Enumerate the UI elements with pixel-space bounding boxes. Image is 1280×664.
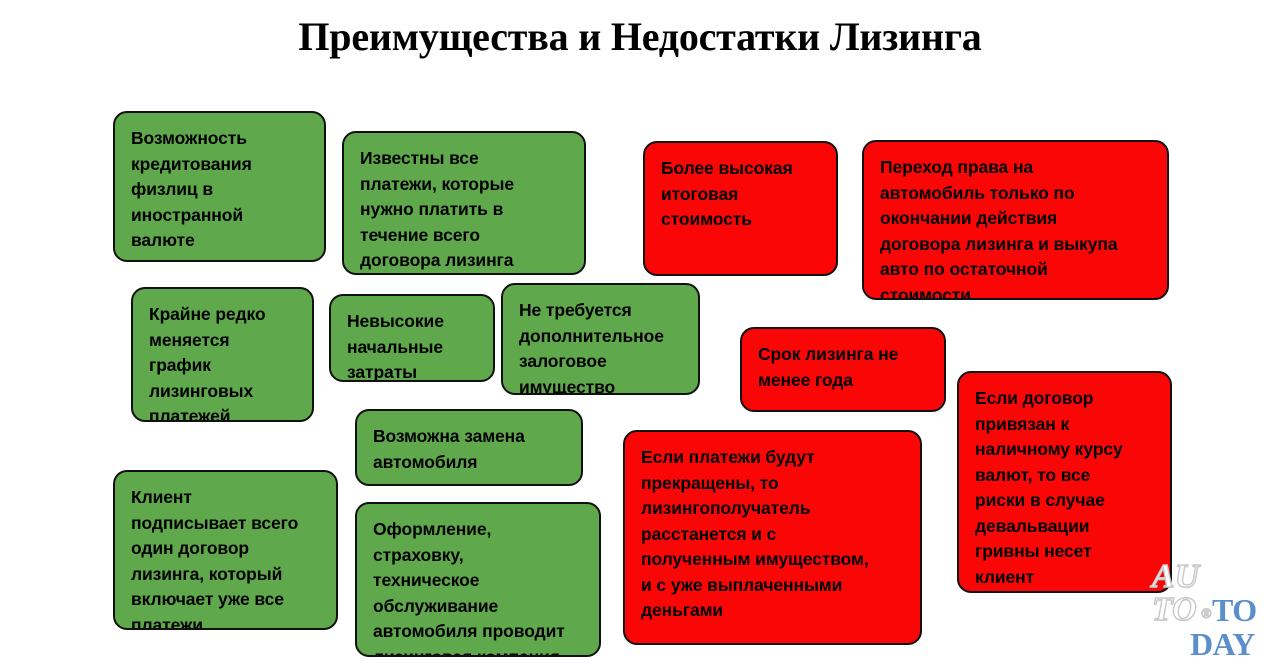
dis-minimum-term: Срок лизинга не менее года xyxy=(740,327,946,412)
card-text: Возможность кредитования физлиц в иностр… xyxy=(131,126,310,254)
adv-credit-foreign-currency: Возможность кредитования физлиц в иностр… xyxy=(113,111,326,262)
watermark-to-second: TO xyxy=(1212,594,1257,626)
card-text: Более высокая итоговая стоимость xyxy=(661,156,822,233)
adv-no-extra-collateral: Не требуется дополнительное залоговое им… xyxy=(501,283,700,395)
card-text: Известны все платежи, которые нужно плат… xyxy=(360,146,570,274)
adv-stable-schedule: Крайне редко меняется график лизинговых … xyxy=(131,287,314,422)
dis-currency-risk: Если договор привязан к наличному курсу … xyxy=(957,371,1172,593)
page-title: Преимущества и Недостатки Лизинга xyxy=(0,14,1280,60)
adv-car-replacement: Возможна замена автомобиля xyxy=(355,409,583,486)
adv-single-contract: Клиент подписывает всего один договор ли… xyxy=(113,470,338,630)
card-text: Не требуется дополнительное залоговое им… xyxy=(519,298,684,395)
adv-low-initial-costs: Невысокие начальные затраты xyxy=(329,294,495,382)
card-text: Крайне редко меняется график лизинговых … xyxy=(149,302,298,422)
card-text: Переход права на автомобиль только по ок… xyxy=(880,155,1153,300)
card-text: Если платежи будут прекращены, то лизинг… xyxy=(641,445,906,624)
card-text: Если договор привязан к наличному курсу … xyxy=(975,386,1156,590)
watermark-to-first: TO xyxy=(1152,593,1197,627)
dis-ownership-transfer: Переход права на автомобиль только по ок… xyxy=(862,140,1169,300)
slide-canvas: Преимущества и Недостатки Лизинга Возмож… xyxy=(0,0,1280,664)
card-text: Клиент подписывает всего один договор ли… xyxy=(131,485,322,630)
adv-known-payments: Известны все платежи, которые нужно плат… xyxy=(342,131,586,275)
adv-company-handles-service: Оформление, страховку, техническое обслу… xyxy=(355,502,601,657)
dis-payment-stop-loss: Если платежи будут прекращены, то лизинг… xyxy=(623,430,922,645)
watermark-registered-mark: ® xyxy=(1201,608,1211,622)
card-text: Возможна замена автомобиля xyxy=(373,424,567,475)
watermark-day: DAY xyxy=(1190,628,1255,660)
dis-higher-total-cost: Более высокая итоговая стоимость xyxy=(643,141,838,276)
card-text: Срок лизинга не менее года xyxy=(758,342,930,393)
card-text: Невысокие начальные затраты xyxy=(347,309,479,382)
card-text: Оформление, страховку, техническое обслу… xyxy=(373,517,585,657)
